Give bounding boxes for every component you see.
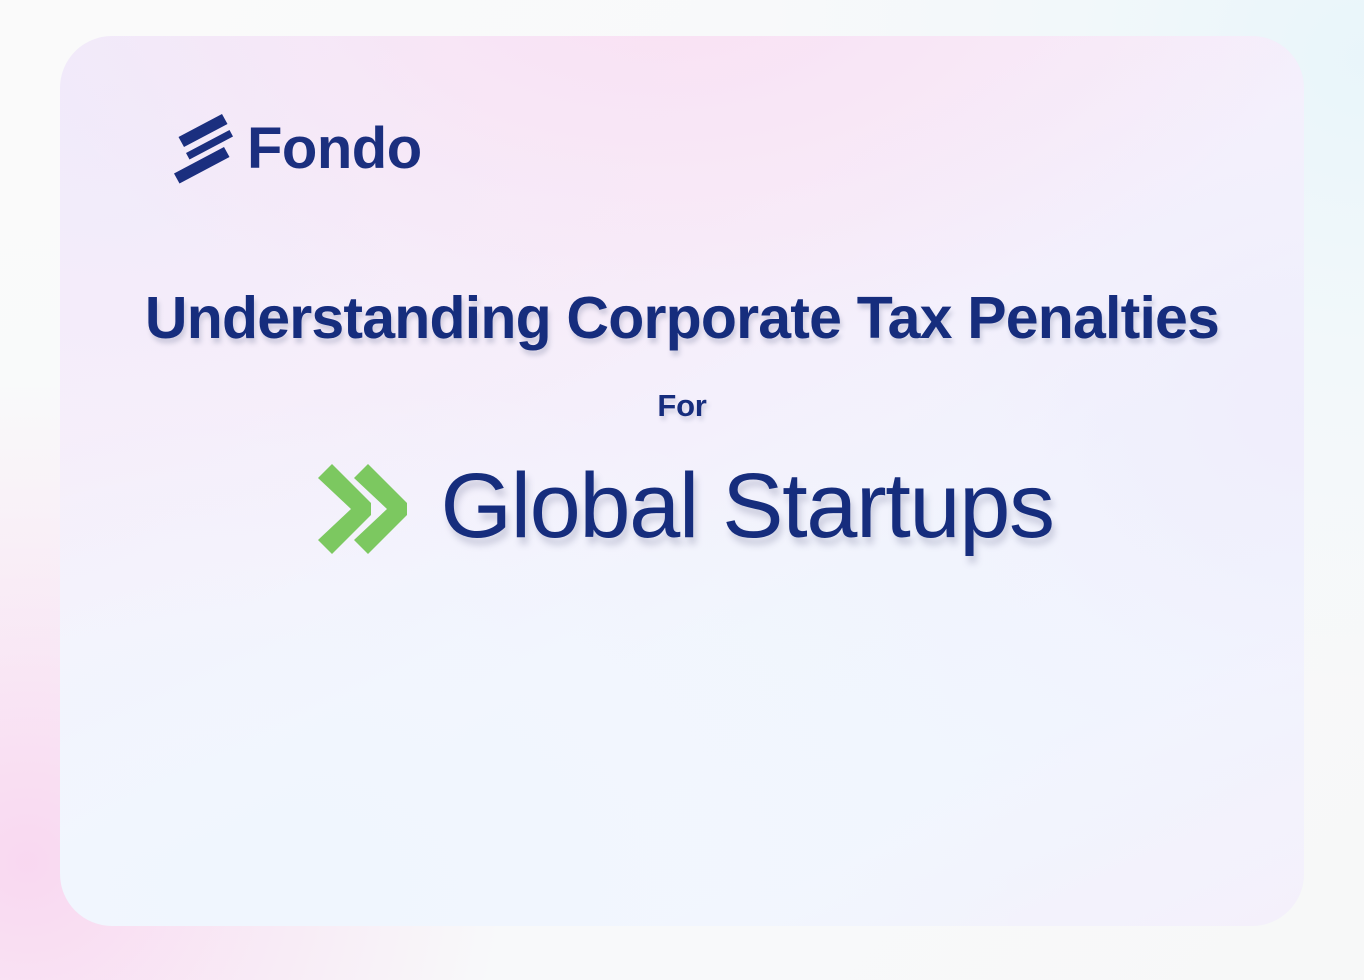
hero-card: Fondo Understanding Corporate Tax Penalt…: [60, 36, 1304, 926]
headline-block: Understanding Corporate Tax Penalties Fo…: [60, 288, 1304, 558]
subject-title: Global Startups: [440, 460, 1053, 552]
double-chevron-right-icon: [310, 460, 408, 558]
title-connector-word: For: [60, 390, 1304, 421]
page-title: Understanding Corporate Tax Penalties: [60, 288, 1304, 350]
fondo-logo-icon: [171, 112, 233, 186]
brand-logo-lockup[interactable]: Fondo: [171, 112, 422, 186]
brand-wordmark: Fondo: [247, 120, 422, 178]
subject-row: Global Startups: [60, 454, 1304, 558]
